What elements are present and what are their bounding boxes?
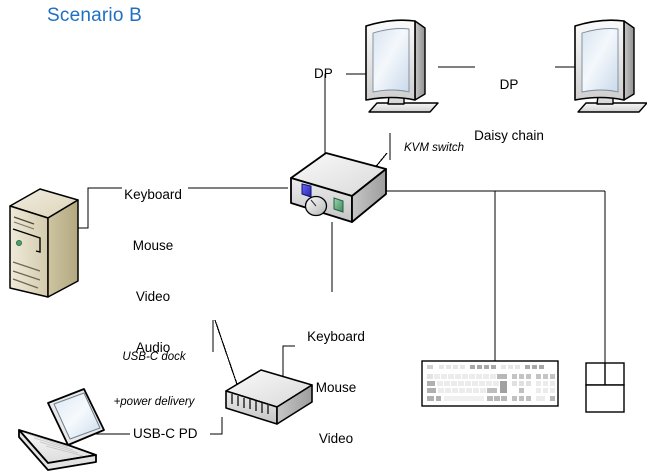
label-usb-dock-line1: USB-C dock [98,350,210,365]
label-kma-bottom-line2: Mouse [296,379,376,396]
monitor-left-graphic [366,20,438,112]
diagram-canvas: Scenario B [0,0,647,475]
line-pd-to-dock [210,417,222,434]
label-usb-dock-line2: +power delivery [98,395,210,410]
keyboard-graphic [422,361,558,406]
label-kma-bottom-line3: Video [296,430,376,447]
label-kvm-switch: KVM switch [404,141,464,156]
label-kma-top-line1: Keyboard [113,186,193,203]
label-kma-top-line3: Video [113,288,193,305]
tower-graphic [10,189,78,297]
mouse-graphic [586,363,624,412]
kvm-switch-graphic [291,153,386,222]
label-dp-left: DP [314,65,333,82]
monitor-right-graphic [575,20,647,112]
label-kma-top-line2: Mouse [113,237,193,254]
laptop-graphic [19,389,104,470]
leader-usb-dock [215,320,240,393]
label-usb-c-pd: USB-C PD [133,425,198,442]
label-usb-c-dock: USB-C dock +power delivery [98,320,210,440]
kvm-green-led [334,198,343,212]
tower-power-led [16,240,21,245]
label-kma-bottom-line1: Keyboard [296,328,376,345]
label-dp-daisy-line2: Daisy chain [463,127,555,144]
label-dp-daisy-chain: DP Daisy chain [463,42,555,178]
label-dp-daisy-line1: DP [463,76,555,93]
label-kma-bottom: Keyboard Mouse Video Audio [296,294,376,475]
